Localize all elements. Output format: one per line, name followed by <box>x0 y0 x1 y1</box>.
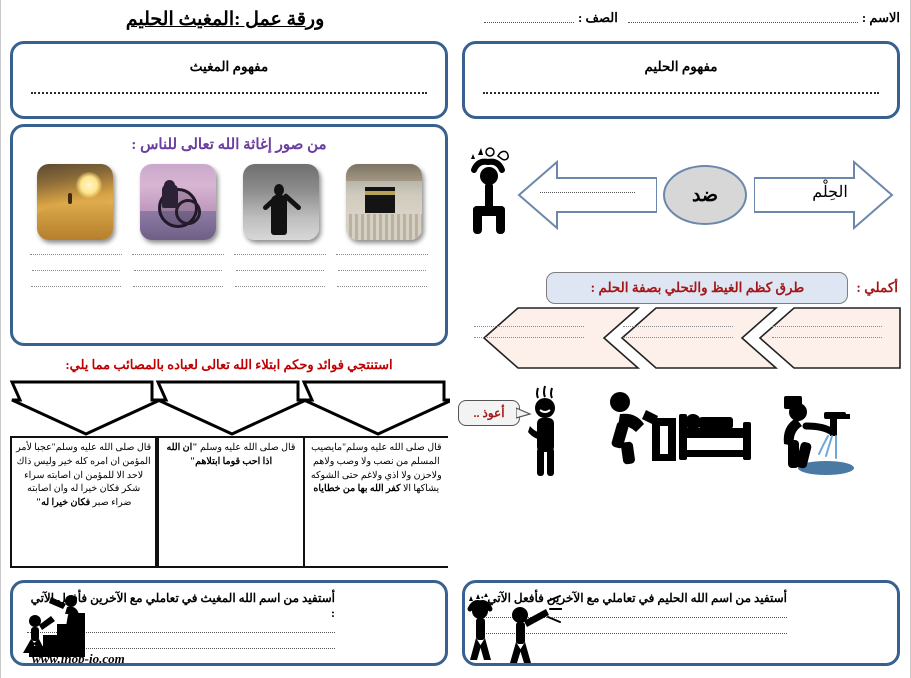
hadith-box-3-bold: كفر الله بها من خطاياه <box>313 484 400 494</box>
speech-bubble-tail-icon <box>516 406 532 422</box>
concept-answer-line-almugheeth[interactable] <box>31 92 427 94</box>
concept-box-alhaleem: مفهوم الحليم <box>462 41 900 119</box>
footer-url-wrap: www.inob-io.com <box>10 650 448 668</box>
angry-person-icon <box>462 146 520 238</box>
seeking-refuge-person-icon <box>518 382 570 478</box>
sitting-down-chair-icon <box>600 388 678 468</box>
name-label: الاسم : <box>862 10 900 26</box>
ways-hexagon-row <box>462 306 902 370</box>
hadith-section-heading: استنتجي فوائد وحكم ابتلاء الله تعالى لعب… <box>65 357 392 372</box>
chevron-2 <box>158 382 306 434</box>
hexagon-2 <box>622 308 776 368</box>
arms-raised-rain-photo <box>243 164 319 240</box>
wheelchair-sunset-photo <box>140 164 216 240</box>
chevron-1 <box>12 382 160 434</box>
bottom-left-box: أستفيد من اسم الله الحليم في تعاملي مع ا… <box>462 580 900 666</box>
hexagon-answer-line[interactable] <box>623 326 733 327</box>
image-answer-line[interactable] <box>336 254 428 255</box>
speech-bubble: أعوذ .. <box>458 400 520 426</box>
shouting-at-person-icon <box>462 593 562 665</box>
hexagon-1 <box>484 308 638 368</box>
image-answer-line[interactable] <box>235 286 325 287</box>
speech-bubble-text: أعوذ .. <box>473 406 504 421</box>
class-input-line[interactable] <box>484 22 574 23</box>
images-section-heading: من صور إغاثة الله تعالى للناس : <box>131 137 326 153</box>
image-answer-line[interactable] <box>132 254 224 255</box>
opposite-ellipse-label: ضد <box>692 184 718 207</box>
hexagon-answer-line[interactable] <box>474 337 584 338</box>
arrow-left-answer-line[interactable] <box>540 192 635 193</box>
lying-down-bed-icon <box>677 400 755 462</box>
image-answer-line[interactable] <box>337 286 427 287</box>
concept-label-alhaleem: مفهوم الحليم <box>644 59 717 74</box>
desert-footprints-photo <box>37 164 113 240</box>
concept-label-almugheeth: مفهوم المغيث <box>190 59 269 74</box>
chevron-3 <box>304 382 450 434</box>
image-answer-line[interactable] <box>134 270 222 271</box>
hexagons-svg <box>462 306 902 370</box>
ways-title-pill: طرق كظم الغيظ والتحلي بصفة الحلم : <box>546 272 848 304</box>
arrow-right-label: الحِلْم <box>812 184 848 201</box>
kaaba-photo <box>346 164 422 240</box>
hadith-box-2: قال صلى الله عليه وسلم "ان الله اذا احب … <box>157 436 302 568</box>
opposite-ellipse: ضد <box>663 165 747 225</box>
image-answer-line[interactable] <box>31 286 121 287</box>
hadith-box-2-plain: قال صلى الله عليه وسلم <box>200 443 296 453</box>
hexagon-answer-lines <box>462 326 882 338</box>
ways-section-header: أكملي : طرق كظم الغيظ والتحلي بصفة الحلم… <box>462 272 898 304</box>
hexagon-3 <box>760 308 900 368</box>
hexagon-answer-line[interactable] <box>623 337 733 338</box>
hadith-box-row: قال صلى الله عليه وسلم"عجبا لأمر المؤمن … <box>10 436 448 568</box>
hexagon-answer-line[interactable] <box>772 326 882 327</box>
worksheet-page: ورقة عمل :المغيث الحليم الاسم : الصف : م… <box>0 0 911 678</box>
opposite-section: الحِلْم ضد <box>460 140 900 250</box>
class-label: الصف : <box>578 10 618 26</box>
hadith-section-heading-wrap: استنتجي فوائد وحكم ابتلاء الله تعالى لعب… <box>10 356 448 374</box>
images-section: من صور إغاثة الله تعالى للناس : <box>10 124 448 346</box>
hadith-box-1: قال صلى الله عليه وسلم"عجبا لأمر المؤمن … <box>10 436 157 568</box>
wudu-ablution-icon <box>770 386 870 478</box>
student-fields: الاسم : الصف : <box>460 10 900 26</box>
worksheet-title-wrap: ورقة عمل :المغيث الحليم <box>10 8 440 31</box>
hexagon-answer-line[interactable] <box>772 337 882 338</box>
images-answer-lines <box>13 254 445 287</box>
hadith-box-1-bold: فكان خيرا له" <box>36 498 90 508</box>
image-answer-line[interactable] <box>236 270 324 271</box>
arrow-left-shape <box>517 160 657 230</box>
concept-answer-line-alhaleem[interactable] <box>483 92 879 94</box>
hadith-box-3: قال صلى الله عليه وسلم"مايصيب المسلم من … <box>303 436 448 568</box>
ways-title-label: طرق كظم الغيظ والتحلي بصفة الحلم : <box>591 280 805 296</box>
page-title: ورقة عمل :المغيث الحليم <box>10 8 440 31</box>
image-answer-line[interactable] <box>133 286 223 287</box>
concept-box-almugheeth: مفهوم المغيث <box>10 41 448 119</box>
image-answer-line[interactable] <box>30 254 122 255</box>
image-answer-line[interactable] <box>338 270 426 271</box>
hexagon-answer-line[interactable] <box>474 326 584 327</box>
image-answer-line[interactable] <box>234 254 326 255</box>
ways-prompt-label: أكملي : <box>856 280 898 296</box>
image-answer-line[interactable] <box>32 270 120 271</box>
name-input-line[interactable] <box>628 22 858 23</box>
footer-url: www.inob-io.com <box>32 651 125 666</box>
hadith-chevrons <box>8 378 450 436</box>
ways-icon-row: أعوذ .. <box>460 382 900 482</box>
